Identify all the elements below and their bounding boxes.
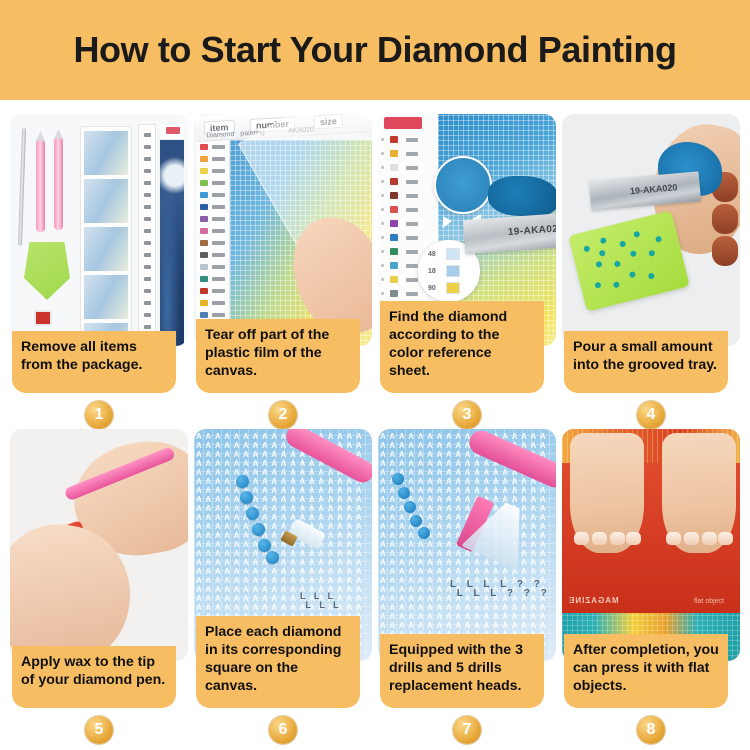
photo-tool-kit	[10, 114, 188, 346]
tweezers-icon	[18, 128, 26, 246]
step-5-caption: Apply wax to the tip of your diamond pen…	[12, 646, 176, 708]
step-card-8[interactable]: MAGAZINE flat object	[562, 429, 740, 744]
step-number-badge-2: 2	[269, 401, 297, 429]
green-grooved-tray	[568, 210, 690, 311]
step-card-5[interactable]: Apply wax to the tip of your diamond pen…	[10, 429, 188, 744]
finger	[712, 204, 738, 234]
step-number-badge-1: 1	[85, 401, 113, 429]
step-4-caption: Pour a small amount into the grooved tra…	[564, 331, 728, 393]
step-number-badge-8: 8	[637, 716, 665, 744]
step-1-image	[10, 114, 188, 346]
photo-apply-wax	[10, 429, 188, 661]
magnifier-canvas-zoom	[434, 156, 492, 214]
photo-peel-film: item number size Diamond painting AKA020	[194, 114, 372, 346]
bag-code-label: 19-AKA020	[508, 223, 556, 238]
caption-text: Find the diamond according to the color …	[389, 309, 535, 381]
step-card-2[interactable]: item number size Diamond painting AKA020…	[194, 114, 372, 429]
left-hand-pressing	[570, 433, 644, 553]
diamond-pen-icon	[54, 138, 63, 230]
supply-bag-icon	[80, 126, 132, 346]
step-2-image: item number size Diamond painting AKA020	[194, 114, 372, 346]
step-5-image	[10, 429, 188, 661]
step-number-badge-5: 5	[85, 716, 113, 744]
step-7-caption: Equipped with the 3 drills and 5 drills …	[380, 634, 544, 708]
step-card-1[interactable]: Remove all items from the package. 1	[10, 114, 188, 429]
step-card-3[interactable]: 48 18 90 19-AKA020 Find the diamond acco…	[378, 114, 556, 429]
caption-text: After completion, you can press it with …	[573, 642, 719, 696]
bag-code-label: 19-AKA020	[630, 182, 678, 196]
step-card-7[interactable]: A A A A A A A A A A A A A A A A A AA A A…	[378, 429, 556, 744]
color-reference-column	[196, 138, 230, 346]
step-3-caption: Find the diamond according to the color …	[380, 301, 544, 393]
caption-text: Apply wax to the tip of your diamond pen…	[21, 654, 167, 690]
sheet-header-tag	[384, 117, 422, 129]
diamond-bag: 19-AKA020	[463, 212, 556, 254]
step-2-caption: Tear off part of the plastic film of the…	[196, 319, 360, 393]
caption-text: Place each diamond in its corresponding …	[205, 624, 351, 696]
step-7-image: A A A A A A A A A A A A A A A A A AA A A…	[378, 429, 556, 661]
green-tray-icon	[24, 242, 70, 300]
step-card-4[interactable]: 19-AKA020 Pour a small amount into the g…	[562, 114, 740, 429]
starry-canvas-image	[160, 124, 184, 346]
field-item-value: Diamond	[206, 131, 234, 140]
diamond-pen-icon	[36, 140, 45, 232]
ruler-strip-icon	[138, 124, 156, 346]
caption-text: Tear off part of the plastic film of the…	[205, 327, 351, 381]
photo-pour-tray: 19-AKA020	[562, 114, 740, 346]
page-title: How to Start Your Diamond Painting	[73, 29, 676, 71]
photo-replacement-heads: A A A A A A A A A A A A A A A A A AA A A…	[378, 429, 556, 661]
step-number-badge-4: 4	[637, 401, 665, 429]
book-sub-label: flat object	[694, 598, 724, 605]
legend-row-3-number: 90	[428, 285, 436, 292]
wax-block-icon	[34, 310, 52, 326]
caption-text: Pour a small amount into the grooved tra…	[573, 339, 719, 375]
loose-diamonds-pile	[488, 176, 556, 216]
legend-row-1-number: 48	[428, 251, 436, 258]
step-1-caption: Remove all items from the package.	[12, 331, 176, 393]
step-8-image: MAGAZINE flat object	[562, 429, 740, 661]
step-number-badge-6: 6	[269, 716, 297, 744]
steps-grid: Remove all items from the package. 1	[0, 100, 750, 744]
step-8-caption: After completion, you can press it with …	[564, 634, 728, 708]
infographic-page: How to Start Your Diamond Painting	[0, 0, 750, 750]
step-card-6[interactable]: A A A A A A A A A A A A A A A A A AA A A…	[194, 429, 372, 744]
right-hand-pressing	[662, 433, 736, 553]
step-number-badge-3: 3	[453, 401, 481, 429]
caption-text: Remove all items from the package.	[21, 339, 167, 375]
page-header: How to Start Your Diamond Painting	[0, 0, 750, 100]
step-6-caption: Place each diamond in its corresponding …	[196, 616, 360, 708]
finger	[712, 236, 738, 266]
step-4-image: 19-AKA020	[562, 114, 740, 346]
legend-row-2-number: 18	[428, 268, 436, 275]
canvas-header-strip	[160, 124, 184, 140]
book-title-label: MAGAZINE	[568, 596, 619, 605]
photo-press-flat-object: MAGAZINE flat object	[562, 429, 740, 661]
step-number-badge-7: 7	[453, 716, 481, 744]
caption-text: Equipped with the 3 drills and 5 drills …	[389, 642, 535, 696]
